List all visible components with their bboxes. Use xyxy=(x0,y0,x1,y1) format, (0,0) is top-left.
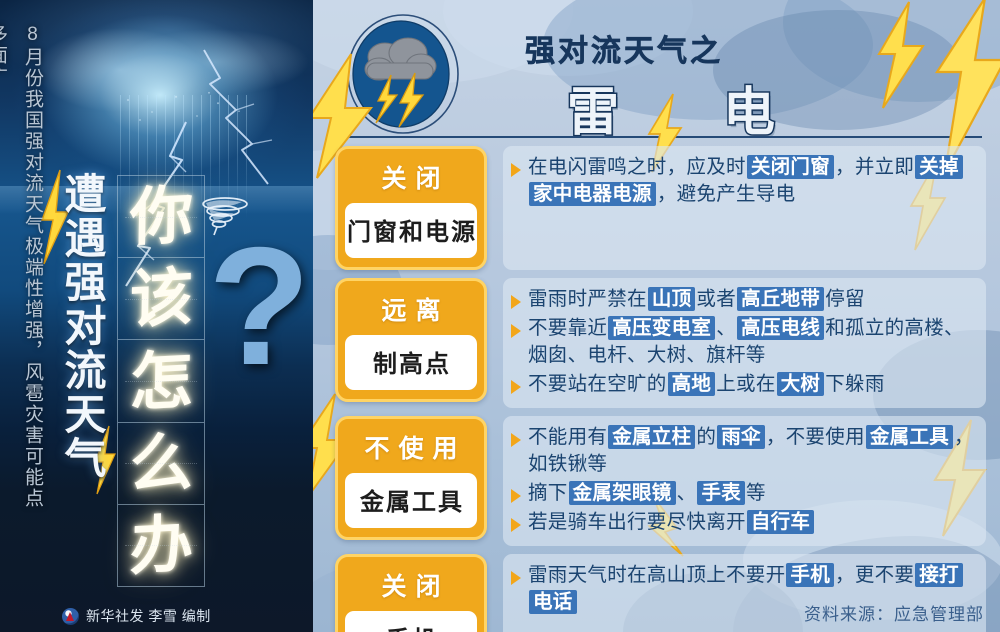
advice-section: 不使用金属工具不能用有金属立柱的雨伞，不要使用金属工具，如铁锹等摘下金属架眼镜、… xyxy=(313,416,1000,546)
keyword-highlight: 大树 xyxy=(777,372,825,396)
text-run: 下躲雨 xyxy=(825,373,884,395)
keyword-highlight: 自行车 xyxy=(747,510,814,534)
text-run: ，并立即 xyxy=(835,156,914,178)
section-tag-title: 关闭 xyxy=(345,564,477,611)
text-run: 或者 xyxy=(696,288,736,310)
calligraphy-char: 该 xyxy=(129,266,193,332)
bullet-item: 不要靠近高压变电室、高压电线和孤立的高楼、烟囱、电杆、大树、旗杆等 xyxy=(511,314,974,370)
bullet-triangle-icon xyxy=(511,518,521,532)
keyword-highlight: 山顶 xyxy=(648,287,696,311)
infographic-poster: 8月份我国强对流天气极端性增强，风雹灾害可能点多面广 遭遇强对流天气 你 该 怎… xyxy=(0,0,1000,632)
bullet-text: 雷雨时严禁在山顶或者高丘地带停留 xyxy=(528,286,865,313)
text-run: 停留 xyxy=(825,288,865,310)
keyword-highlight: 高地 xyxy=(668,372,716,396)
bullet-triangle-icon xyxy=(511,380,521,394)
text-run: ，不要使用 xyxy=(766,426,865,448)
bullet-item: 不要站在空旷的高地上或在大树下躲雨 xyxy=(511,370,974,399)
credit-line: 新华社发 李雪 编制 xyxy=(62,606,211,626)
text-run: 雷雨天气时在高山顶上不要开 xyxy=(528,564,785,586)
xinhua-logo-icon xyxy=(62,608,79,625)
bullet-triangle-icon xyxy=(511,571,521,585)
section-tag[interactable]: 关闭门窗和电源 xyxy=(335,146,487,270)
advice-sections: 关闭门窗和电源在电闪雷鸣之时，应及时关闭门窗，并立即关掉家中电器电源，避免产生导… xyxy=(313,146,1000,632)
text-run: ，更不要 xyxy=(835,564,914,586)
calligraphy-column: 你 该 怎 么 办 xyxy=(117,175,205,587)
calligraphy-cell: 么 xyxy=(117,422,205,504)
bullet-item: 不能用有金属立柱的雨伞，不要使用金属工具，如铁锹等 xyxy=(511,423,974,479)
text-run: 不能用有 xyxy=(528,426,607,448)
section-tag-subject: 金属工具 xyxy=(345,473,477,528)
text-run: 不要站在空旷的 xyxy=(528,373,667,395)
bullet-text: 摘下金属架眼镜、手表等 xyxy=(528,480,766,507)
calligraphy-cell: 你 xyxy=(117,175,205,257)
section-tag[interactable]: 关闭手机 xyxy=(335,554,487,632)
calligraphy-char: 怎 xyxy=(129,348,193,414)
bullet-triangle-icon xyxy=(511,489,521,503)
credit-text: 新华社发 李雪 编制 xyxy=(86,606,211,626)
section-tag-subject: 手机 xyxy=(345,611,477,632)
header-divider xyxy=(331,136,982,138)
bullet-item: 若是骑车出行要尽快离开自行车 xyxy=(511,508,974,537)
text-run: 若是骑车出行要尽快离开 xyxy=(528,511,746,533)
storm-cloud-lightning-icon xyxy=(345,13,461,135)
text-run: 摘下 xyxy=(528,482,568,504)
bullet-text: 不能用有金属立柱的雨伞，不要使用金属工具，如铁锹等 xyxy=(528,424,974,478)
advice-section: 关闭门窗和电源在电闪雷鸣之时，应及时关闭门窗，并立即关掉家中电器电源，避免产生导… xyxy=(313,146,1000,270)
keyword-highlight: 金属立柱 xyxy=(608,425,695,449)
section-tag-title: 远离 xyxy=(345,288,477,335)
bullet-triangle-icon xyxy=(511,433,521,447)
right-content-panel: 强对流天气之 雷 电 关闭 xyxy=(313,0,1000,632)
bullet-text: 在电闪雷鸣之时，应及时关闭门窗，并立即关掉家中电器电源，避免产生导电 xyxy=(528,154,974,208)
keyword-highlight: 高压电线 xyxy=(737,316,824,340)
text-run: ，避免产生导电 xyxy=(657,183,796,205)
text-run: 不要靠近 xyxy=(528,317,607,339)
lightning-bolt-icon xyxy=(196,48,306,188)
section-tag[interactable]: 不使用金属工具 xyxy=(335,416,487,540)
calligraphy-char: 么 xyxy=(129,430,193,496)
bullet-triangle-icon xyxy=(511,324,521,338)
text-run: 上或在 xyxy=(716,373,775,395)
section-bullet-list: 雷雨时严禁在山顶或者高丘地带停留不要靠近高压变电室、高压电线和孤立的高楼、烟囱、… xyxy=(503,278,986,408)
bullet-triangle-icon xyxy=(511,163,521,177)
keyword-highlight: 雨伞 xyxy=(717,425,765,449)
keyword-highlight: 手机 xyxy=(786,563,834,587)
keyword-highlight: 手表 xyxy=(697,481,745,505)
bullet-text: 若是骑车出行要尽快离开自行车 xyxy=(528,509,815,536)
text-run: 在电闪雷鸣之时，应及时 xyxy=(528,156,746,178)
section-tag-title: 关闭 xyxy=(345,156,477,203)
source-note: 资料来源：应急管理部 xyxy=(804,600,984,625)
left-vertical-subtitle: 8月份我国强对流天气极端性增强，风雹灾害可能点多面广 xyxy=(14,24,50,524)
keyword-highlight: 关闭门窗 xyxy=(747,155,834,179)
panel-header: 强对流天气之 雷 电 xyxy=(313,0,1000,146)
bullet-item: 在电闪雷鸣之时，应及时关闭门窗，并立即关掉家中电器电源，避免产生导电 xyxy=(511,153,974,209)
bullet-item: 雷雨时严禁在山顶或者高丘地带停留 xyxy=(511,285,974,314)
calligraphy-char: 办 xyxy=(129,512,193,578)
keyword-highlight: 高压变电室 xyxy=(608,316,715,340)
keyword-highlight: 金属架眼镜 xyxy=(569,481,676,505)
text-run: 、 xyxy=(716,317,736,339)
section-tag-subject: 制高点 xyxy=(345,335,477,390)
calligraphy-char: 你 xyxy=(129,183,193,249)
header-title: 雷 电 xyxy=(567,70,801,145)
header-kicker: 强对流天气之 xyxy=(525,26,723,70)
left-vertical-headline: 遭遇强对流天气 xyxy=(56,172,106,512)
calligraphy-cell: 怎 xyxy=(117,339,205,421)
text-run: 的 xyxy=(696,426,716,448)
calligraphy-cell: 该 xyxy=(117,257,205,339)
text-run: 雷雨时严禁在 xyxy=(528,288,647,310)
bullet-text: 不要靠近高压变电室、高压电线和孤立的高楼、烟囱、电杆、大树、旗杆等 xyxy=(528,315,974,369)
bullet-triangle-icon xyxy=(511,295,521,309)
section-bullet-list: 不能用有金属立柱的雨伞，不要使用金属工具，如铁锹等摘下金属架眼镜、手表等若是骑车… xyxy=(503,416,986,546)
bullet-text: 不要站在空旷的高地上或在大树下躲雨 xyxy=(528,371,885,398)
bullet-item: 摘下金属架眼镜、手表等 xyxy=(511,479,974,508)
text-run: 、 xyxy=(677,482,697,504)
keyword-highlight: 金属工具 xyxy=(866,425,953,449)
text-run: 等 xyxy=(746,482,766,504)
calligraphy-cell: 办 xyxy=(117,504,205,587)
keyword-highlight: 高丘地带 xyxy=(737,287,824,311)
advice-section: 远离制高点雷雨时严禁在山顶或者高丘地带停留不要靠近高压变电室、高压电线和孤立的高… xyxy=(313,278,1000,408)
section-tag-subject: 门窗和电源 xyxy=(345,203,477,258)
section-tag[interactable]: 远离制高点 xyxy=(335,278,487,402)
section-bullet-list: 在电闪雷鸣之时，应及时关闭门窗，并立即关掉家中电器电源，避免产生导电 xyxy=(503,146,986,270)
left-hero-panel: 8月份我国强对流天气极端性增强，风雹灾害可能点多面广 遭遇强对流天气 你 该 怎… xyxy=(0,0,313,632)
section-tag-title: 不使用 xyxy=(345,426,477,473)
question-mark-graphic: ? xyxy=(208,222,311,390)
